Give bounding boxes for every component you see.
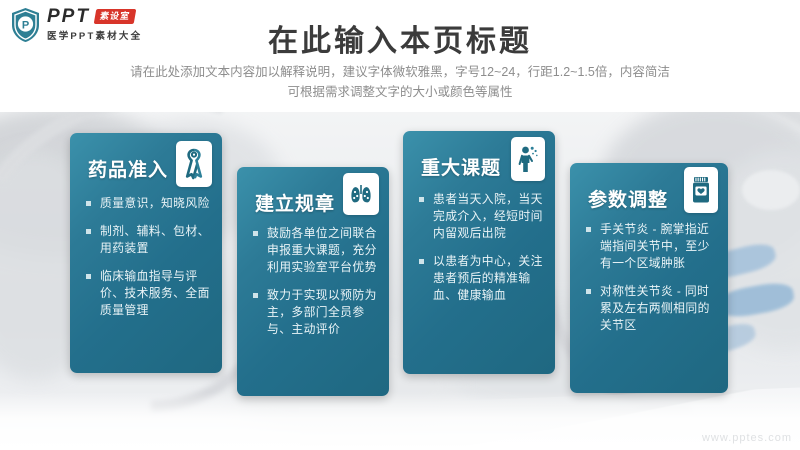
bullet-text: 患者当天入院，当天完成介入，经短时间内留观后出院	[433, 191, 543, 242]
bullet-marker	[253, 231, 258, 236]
bullet-marker	[419, 259, 424, 264]
subtitle-line-2: 可根据需求调整文字的大小或颜色等属性	[0, 82, 800, 102]
card-bullets-4: 手关节炎 - 腕掌指近端指间关节中，至少有一个区域肿胀 对称性关节炎 - 同时累…	[584, 221, 716, 345]
logo-brand: PPT	[47, 7, 90, 26]
list-item: 质量意识，知晓风险	[84, 195, 210, 212]
bullet-text: 质量意识，知晓风险	[100, 195, 210, 212]
bullet-text: 致力于实现以预防为主，多部门全员参与、主动评价	[267, 287, 377, 338]
page-subtitle: 请在此处添加文本内容加以解释说明，建议字体微软雅黑，字号12~24，行距1.2~…	[0, 62, 800, 102]
logo-badge: 素设室	[94, 9, 137, 24]
bullet-marker	[586, 289, 591, 294]
list-item: 对称性关节炎 - 同时累及左右两侧相同的关节区	[584, 283, 716, 334]
content-card-2[interactable]: 建立规章 鼓励各单位之间联合申报重大课题，充分利用实验室平台优势 致力	[237, 167, 389, 396]
bullet-text: 鼓励各单位之间联合申报重大课题，充分利用实验室平台优势	[267, 225, 377, 276]
content-card-4[interactable]: 参数调整 手关节炎 - 腕掌指近端指间关节中，至少有一个区域肿胀 对称	[570, 163, 728, 393]
logo-tagline: 医学PPT素材大全	[47, 28, 142, 42]
list-item: 鼓励各单位之间联合申报重大课题，充分利用实验室平台优势	[251, 225, 377, 276]
site-logo[interactable]: P PPT 素设室 医学PPT素材大全	[10, 7, 142, 43]
content-card-3[interactable]: 重大课题 患者当天入院，当天完成介入，经短时间内留观后出院 以患者为中心，关注患…	[403, 131, 555, 374]
bullet-text: 临床输血指导与评价、技术服务、全面质量管理	[100, 268, 210, 319]
watermark: www.pptes.com	[702, 432, 792, 444]
logo-brand-row: PPT 素设室	[47, 7, 142, 26]
logo-text-group: PPT 素设室 医学PPT素材大全	[47, 7, 142, 42]
card-title-3: 重大课题	[421, 153, 501, 180]
pill-shape	[742, 170, 800, 210]
card-title-4: 参数调整	[588, 185, 668, 212]
bullet-text: 手关节炎 - 腕掌指近端指间关节中，至少有一个区域肿胀	[600, 221, 716, 272]
content-card-1[interactable]: 药品准入 质量意识，知晓风险 制剂、辅料、包材、用药装置 临床输血指导与评价、技…	[70, 133, 222, 373]
slide-canvas: P PPT 素设室 医学PPT素材大全 在此输入本页标题 请在此处添加文本内容加…	[0, 0, 800, 450]
bullet-text: 对称性关节炎 - 同时累及左右两侧相同的关节区	[600, 283, 716, 334]
card-title-2: 建立规章	[255, 189, 335, 216]
svg-text:P: P	[22, 19, 29, 31]
pill-bottle-icon	[684, 167, 718, 213]
bullet-marker	[86, 201, 91, 206]
card-bullets-1: 质量意识，知晓风险 制剂、辅料、包材、用药装置 临床输血指导与评价、技术服务、全…	[84, 195, 210, 330]
bullet-marker	[253, 293, 258, 298]
list-item: 制剂、辅料、包材、用药装置	[84, 223, 210, 257]
ribbon-icon	[176, 141, 212, 187]
bullet-marker	[86, 229, 91, 234]
card-bullets-3: 患者当天入院，当天完成介入，经短时间内留观后出院 以患者为中心，关注患者预后的精…	[417, 191, 543, 315]
bullet-marker	[86, 274, 91, 279]
list-item: 以患者为中心，关注患者预后的精准输血、健康输血	[417, 253, 543, 304]
background-bottom-fade	[0, 392, 800, 450]
list-item: 致力于实现以预防为主，多部门全员参与、主动评价	[251, 287, 377, 338]
bullet-marker	[419, 197, 424, 202]
bullet-text: 以患者为中心，关注患者预后的精准输血、健康输血	[433, 253, 543, 304]
patient-icon	[511, 137, 545, 181]
shield-icon: P	[10, 7, 41, 43]
subtitle-line-1: 请在此处添加文本内容加以解释说明，建议字体微软雅黑，字号12~24，行距1.2~…	[0, 62, 800, 82]
list-item: 患者当天入院，当天完成介入，经短时间内留观后出院	[417, 191, 543, 242]
list-item: 临床输血指导与评价、技术服务、全面质量管理	[84, 268, 210, 319]
card-bullets-2: 鼓励各单位之间联合申报重大课题，充分利用实验室平台优势 致力于实现以预防为主，多…	[251, 225, 377, 349]
lungs-icon	[343, 173, 379, 215]
bullet-marker	[586, 227, 591, 232]
card-title-1: 药品准入	[88, 155, 168, 182]
list-item: 手关节炎 - 腕掌指近端指间关节中，至少有一个区域肿胀	[584, 221, 716, 272]
bullet-text: 制剂、辅料、包材、用药装置	[100, 223, 210, 257]
